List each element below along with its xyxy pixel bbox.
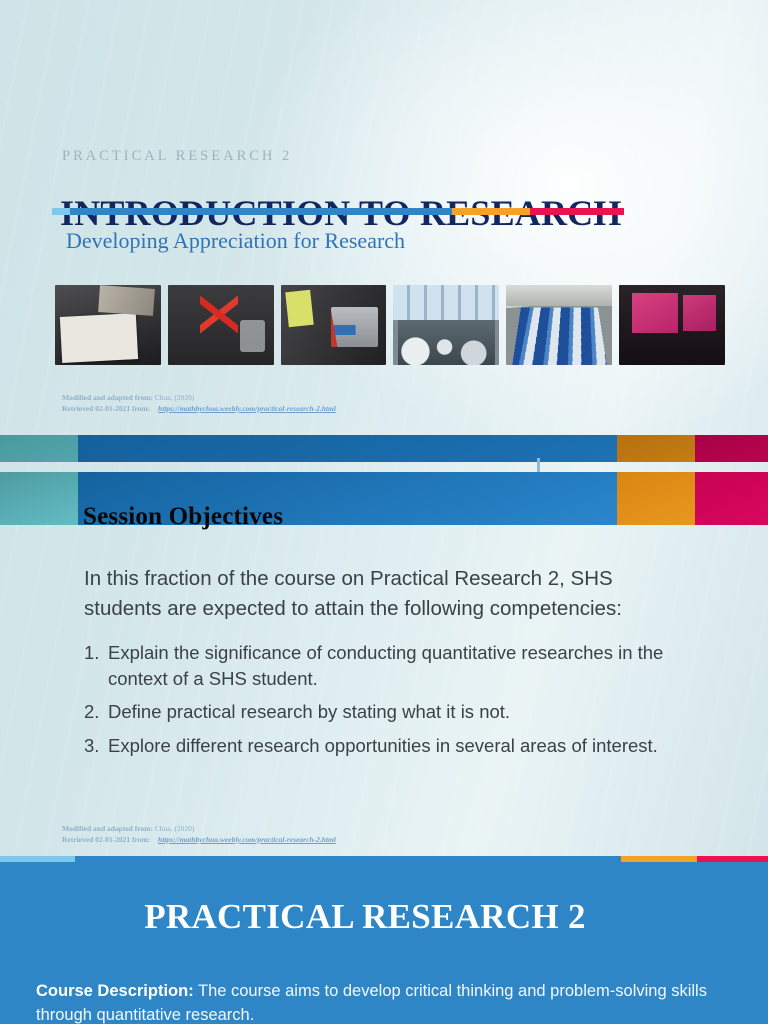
credit-retrieved-label: Retrieved 02-01-2021 from: bbox=[62, 835, 150, 844]
photo-worksheet-on-desk bbox=[55, 285, 161, 365]
band-divider-tick bbox=[537, 458, 540, 472]
section-heading: Session Objectives bbox=[83, 503, 283, 531]
objectives-list: 1.Explain the significance of conducting… bbox=[84, 640, 688, 766]
credit-source-value: Chua, (2020) bbox=[155, 824, 195, 833]
list-item: 2.Define practical research by stating w… bbox=[84, 699, 688, 725]
list-item: 3.Explore different research opportuniti… bbox=[84, 733, 688, 759]
credit-retrieved-label: Retrieved 02-01-2021 from: bbox=[62, 404, 150, 413]
band-segment-teal bbox=[0, 435, 78, 462]
title-subtitle: Developing Appreciation for Research bbox=[66, 228, 405, 254]
credit-source-label: Modified and adapted from: bbox=[62, 824, 153, 833]
title-accent-bar bbox=[52, 208, 624, 215]
course-title: PRACTICAL RESEARCH 2 bbox=[0, 895, 768, 938]
credit-source-label: Modified and adapted from: bbox=[62, 393, 153, 402]
list-item-label: Explore different research opportunities… bbox=[108, 735, 658, 756]
band-segment-crimson bbox=[695, 472, 768, 525]
list-item-number: 3. bbox=[84, 733, 108, 759]
photo-strip bbox=[55, 285, 725, 365]
list-item-number: 1. bbox=[84, 640, 108, 666]
list-item: 1.Explain the significance of conducting… bbox=[84, 640, 688, 691]
photo-red-propeller-kit bbox=[168, 285, 274, 365]
band-segment-orange bbox=[617, 472, 695, 525]
accent-segment-crimson bbox=[530, 208, 624, 215]
course-eyebrow-label: PRACTICAL RESEARCH 2 bbox=[62, 148, 292, 165]
band-segment-orange bbox=[617, 435, 695, 462]
list-item-number: 2. bbox=[84, 699, 108, 725]
photo-wiring-components bbox=[281, 285, 387, 365]
accent-segment-lightblue bbox=[52, 208, 70, 215]
objectives-slide-credit: Modified and adapted from: Chua, (2020) … bbox=[62, 823, 336, 845]
slide-deck-page: PRACTICAL RESEARCH 2 INTRODUCTION TO RES… bbox=[0, 0, 768, 1024]
accent-segment-orange bbox=[452, 208, 530, 215]
photo-auditorium-projection bbox=[619, 285, 725, 365]
objectives-intro-text: In this fraction of the course on Practi… bbox=[84, 564, 684, 624]
credit-source-link[interactable]: https://mathbychua.weebly.com/practical-… bbox=[158, 835, 336, 844]
credit-source-value: Chua, (2020) bbox=[155, 393, 195, 402]
photo-classroom-participants bbox=[393, 285, 499, 365]
title-slide-credit: Modified and adapted from: Chua, (2020) … bbox=[62, 392, 336, 414]
course-description-label: Course Description: bbox=[36, 982, 194, 1000]
objectives-upper-band bbox=[0, 435, 768, 462]
list-item-label: Define practical research by stating wha… bbox=[108, 701, 510, 722]
course-description: Course Description: The course aims to d… bbox=[36, 979, 736, 1024]
accent-segment-blue bbox=[70, 208, 452, 215]
list-item-label: Explain the significance of conducting q… bbox=[108, 642, 663, 689]
title-slide: PRACTICAL RESEARCH 2 INTRODUCTION TO RES… bbox=[0, 0, 768, 435]
band-segment-crimson bbox=[695, 435, 768, 462]
band-segment-teal bbox=[0, 472, 78, 525]
credit-source-link[interactable]: https://mathbychua.weebly.com/practical-… bbox=[158, 404, 336, 413]
photo-blue-kit-boxes bbox=[506, 285, 612, 365]
